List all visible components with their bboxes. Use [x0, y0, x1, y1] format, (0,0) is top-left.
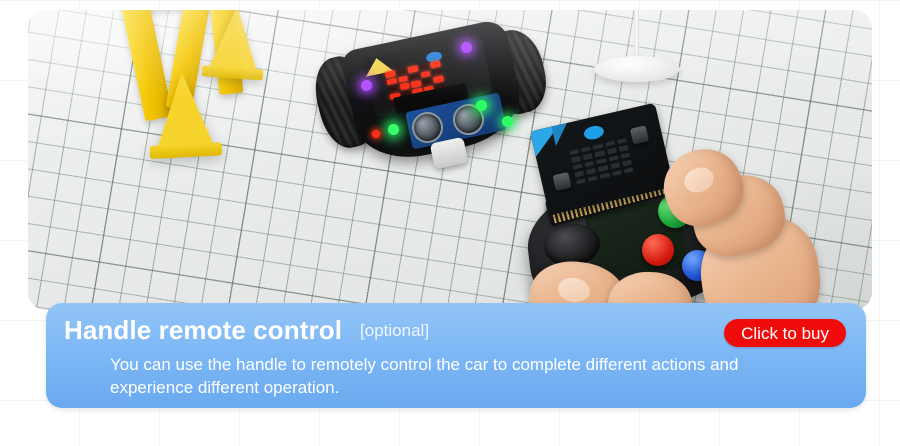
click-to-buy-button[interactable]: Click to buy [724, 319, 846, 347]
pole-stand-base [594, 56, 680, 82]
microbit-button-b [630, 125, 649, 144]
traffic-cone-body [154, 71, 214, 148]
banner-optional-tag: [optional] [360, 322, 429, 339]
banner-title: Handle remote control [64, 317, 342, 343]
traffic-cone-front [154, 70, 222, 158]
gamepad-button-red [642, 234, 674, 266]
microbit-face-logo [583, 124, 605, 141]
rgb-led-purple-right [461, 42, 472, 53]
gamepad-scene [496, 122, 796, 310]
product-photo [28, 10, 872, 310]
rgb-led-green-mid [476, 100, 487, 111]
microbit-led-matrix [569, 138, 633, 184]
pole-stand-rod [634, 10, 639, 62]
microbit-blue-accent-b [551, 123, 571, 146]
info-banner: Handle remote control [optional] Click t… [46, 303, 866, 408]
rgb-led-green-left [388, 124, 399, 135]
robot-car-caster-wheel [430, 137, 469, 170]
status-led-red [372, 130, 380, 138]
banner-description: You can use the handle to remotely contr… [110, 353, 806, 399]
rgb-led-purple-left [361, 80, 372, 91]
microbit-button-a [552, 172, 571, 191]
traffic-cone-body [209, 10, 261, 71]
